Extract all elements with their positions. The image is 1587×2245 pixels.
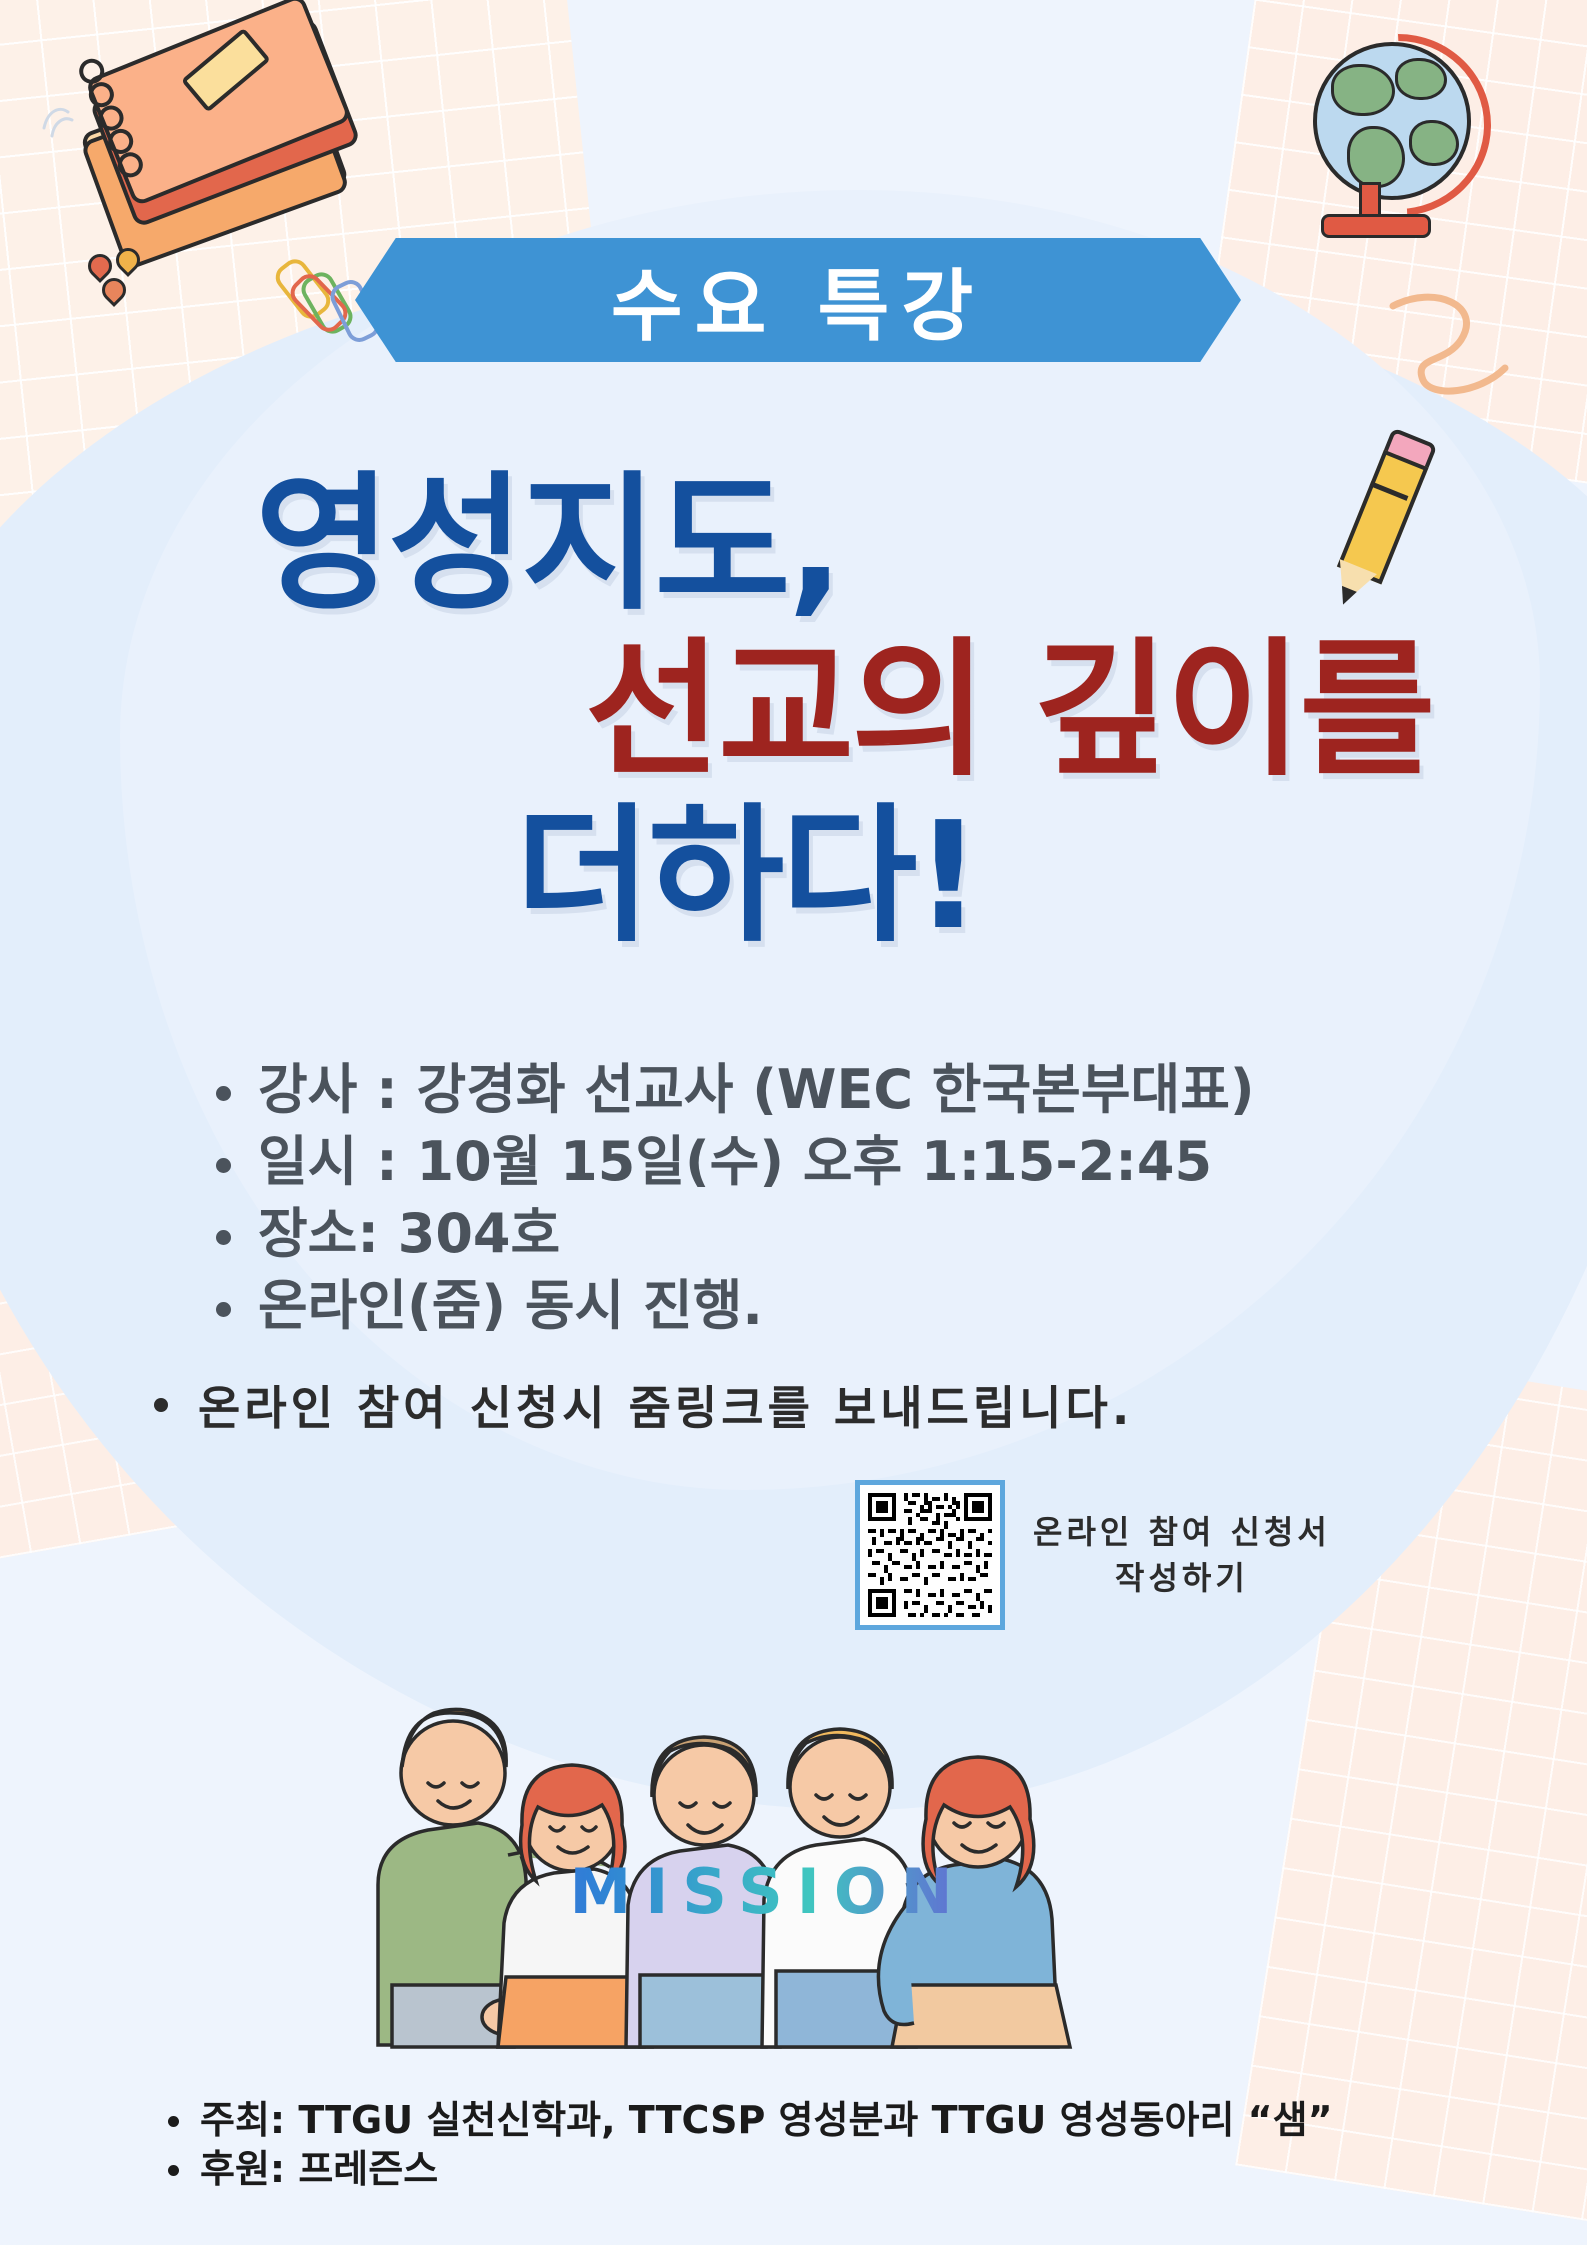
push-pin-yellow: [111, 243, 145, 277]
qr-label-line-2: 작성하기: [1033, 1555, 1331, 1601]
qr-registration-block[interactable]: 온라인 참여 신청서 작성하기: [855, 1480, 1331, 1630]
list-item: 장소: 304호: [210, 1200, 1490, 1268]
headline-line-2: 선교의 깊이를: [0, 628, 1587, 794]
mission-wordmark: MISSION: [358, 1855, 1178, 1928]
qr-label: 온라인 참여 신청서 작성하기: [1033, 1509, 1331, 1602]
notebooks-illustration: [63, 18, 377, 253]
globe-landmass: [1331, 64, 1395, 116]
list-item: 일시 : 10월 15일(수) 오후 1:15-2:45: [210, 1128, 1490, 1196]
online-registration-note: 온라인 참여 신청시 줌링크를 보내드립니다.: [150, 1372, 1498, 1438]
qr-label-line-1: 온라인 참여 신청서: [1033, 1509, 1331, 1555]
headline-line-3: 더하다!: [0, 794, 1587, 960]
qr-code-icon[interactable]: [855, 1480, 1005, 1630]
list-item: 후원: 프레즌스: [160, 2145, 1560, 2194]
list-item: 강사 : 강경화 선교사 (WEC 한국본부대표): [210, 1056, 1490, 1124]
footer-credits-list: 주최: TTGU 실천신학과, TTCSP 영성분과 TTGU 영성동아리 “샘…: [120, 2096, 1560, 2193]
event-details-list: 강사 : 강경화 선교사 (WEC 한국본부대표) 일시 : 10월 15일(수…: [170, 1056, 1490, 1344]
push-pins-illustration: [88, 248, 158, 308]
globe-base: [1321, 214, 1431, 238]
globe-landmass: [1347, 126, 1405, 188]
list-item: 온라인(줌) 동시 진행.: [210, 1272, 1490, 1340]
headline-line-1: 영성지도,: [0, 462, 1587, 628]
globe-illustration: [1301, 36, 1491, 226]
notebook-label: [181, 28, 271, 113]
headline-block: 영성지도, 선교의 깊이를 더하다!: [0, 462, 1587, 959]
ribbon-title: 수요 특강: [355, 238, 1241, 362]
list-item: 주최: TTGU 실천신학과, TTCSP 영성분과 TTGU 영성동아리 “샘…: [160, 2096, 1560, 2145]
squiggle-doodle-icon: [1387, 290, 1517, 400]
